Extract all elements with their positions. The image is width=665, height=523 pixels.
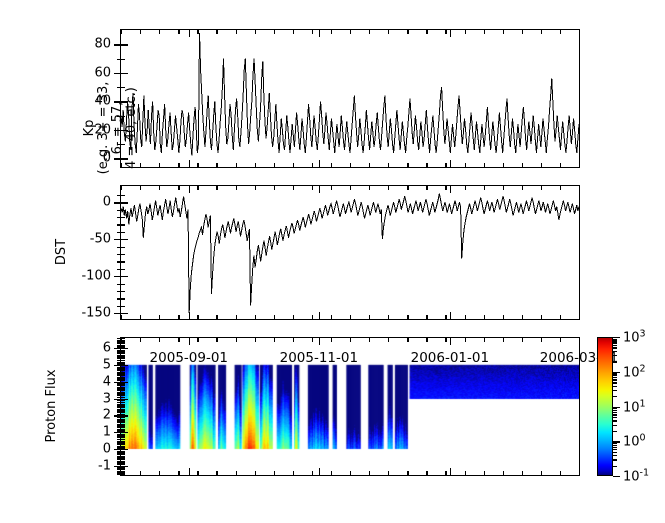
y-tick-minor-inner [121,446,125,447]
x-tick-minor [197,30,198,34]
x-tick-minor [465,315,466,319]
y-tick-major [114,202,121,203]
y-tick-major [114,276,121,277]
x-tick-minor [522,315,523,319]
x-tick-minor [503,163,504,167]
y-tick-major [114,239,121,240]
x-tick-minor [140,30,141,34]
x-tick-minor [484,30,485,34]
x-tick-minor [350,186,351,190]
x-tick-label: 2005-11-01 [280,350,358,366]
colorbar-tick-minor [613,373,617,374]
y-tick-minor-inner [121,355,125,356]
x-tick-major [450,468,451,475]
y-tick-minor-inner [121,217,125,218]
y-tick-minor-inner [121,373,125,374]
x-tick-major [450,186,451,193]
y-tick-minor-inner [121,368,125,369]
y-tick-label: 5 [103,357,111,372]
x-tick-minor [541,30,542,34]
x-tick-minor [274,163,275,167]
x-tick-minor [121,471,122,475]
x-tick-minor [159,163,160,167]
x-tick-minor [255,30,256,34]
y-tick-minor-inner [121,452,125,453]
y-tick-major-inner [121,365,128,366]
y-tick-minor-inner [121,224,125,225]
x-tick-minor [522,30,523,34]
y-tick-minor-inner [121,385,125,386]
y-tick-label: -50 [90,232,111,247]
x-tick-minor [140,315,141,319]
y-tick-minor-inner [121,425,125,426]
y-tick-minor-inner [121,441,125,442]
x-tick-minor [465,338,466,342]
x-tick-minor [407,315,408,319]
y-tick-label: -150 [81,306,111,321]
x-tick-minor [426,30,427,34]
y-tick-minor-inner [121,358,125,359]
x-tick-minor [560,315,561,319]
x-tick-minor [312,186,313,190]
figure-canvas: 020406080 Kp (e.g. 3+ = 33, 6- = 57, 4 =… [0,0,665,523]
x-tick-minor [369,163,370,167]
x-tick-minor [178,471,179,475]
colorbar-tick-minor [613,342,617,343]
x-tick-minor [541,163,542,167]
x-tick-major [319,30,320,37]
y-tick-major-inner [121,202,128,203]
x-tick-minor [388,186,389,190]
y-tick-major [114,348,121,349]
y-tick-major [114,313,121,314]
y-tick-minor-inner [121,343,125,344]
x-tick-major [189,30,190,37]
colorbar-tick-minor [613,410,617,411]
x-tick-minor [369,186,370,190]
x-tick-minor [312,30,313,34]
colorbar-label-exponent: 1 [640,398,646,409]
x-tick-major [579,186,580,193]
x-tick-minor [388,163,389,167]
x-tick-minor [369,30,370,34]
x-tick-minor [407,186,408,190]
y-tick-minor-inner [121,291,125,292]
y-tick-minor-inner [121,269,125,270]
y-tick-major-inner [121,382,128,383]
y-tick-minor-inner [121,195,125,196]
x-tick-major [579,30,580,37]
x-tick-minor [388,471,389,475]
x-tick-minor [159,338,160,342]
colorbar-tick-label: 103 [623,328,646,345]
x-tick-minor [407,471,408,475]
x-tick-major [450,160,451,167]
y-tick-minor-inner [121,345,125,346]
x-tick-minor [178,163,179,167]
x-tick-major [579,160,580,167]
y-tick-minor-inner [121,388,125,389]
y-tick-major-inner [121,466,128,467]
x-tick-minor [541,315,542,319]
y-tick-minor-inner [121,360,125,361]
dst-line-series [121,186,579,319]
x-tick-minor [197,186,198,190]
kp-plot-area [121,30,579,167]
colorbar-tick-minor [613,382,617,383]
y-tick-label: 0 [103,441,111,456]
y-tick-minor-inner [121,393,125,394]
y-tick-label: 4 [103,374,111,389]
x-tick-minor [560,163,561,167]
x-tick-minor [407,30,408,34]
x-tick-major [450,338,451,345]
colorbar-gradient [597,337,613,476]
y-tick-label: -100 [81,269,111,284]
y-tick-minor-inner [121,435,125,436]
x-tick-label: 2005-09-01 [150,350,228,366]
x-tick-major [579,312,580,319]
x-tick-label: 2006-01-01 [411,350,489,366]
y-tick-minor-inner [121,232,125,233]
colorbar-label-mantissa: 10 [623,400,640,415]
colorbar-tick-minor [613,445,617,446]
x-tick-minor [274,30,275,34]
x-tick-minor [216,163,217,167]
x-tick-major [319,468,320,475]
x-tick-minor [121,315,122,319]
dst-plot-area [121,186,579,319]
y-tick-minor-inner [121,367,125,368]
x-tick-minor [426,163,427,167]
x-tick-major [189,312,190,319]
x-tick-major [189,186,190,193]
x-tick-minor [197,163,198,167]
colorbar-tick-minor [613,466,617,467]
x-tick-minor [484,315,485,319]
x-tick-minor [350,163,351,167]
x-tick-minor [522,471,523,475]
x-tick-minor [369,471,370,475]
y-tick-minor-inner [121,427,125,428]
y-tick-minor-inner [121,407,125,408]
y-tick-minor-inner [121,420,125,421]
x-tick-minor [465,471,466,475]
x-tick-minor [216,315,217,319]
x-tick-minor [407,338,408,342]
x-tick-minor [140,338,141,342]
x-tick-minor [178,338,179,342]
colorbar-label-exponent: -1 [640,467,649,478]
colorbar-tick-minor [613,340,617,341]
y-tick-minor-inner [121,429,125,430]
x-tick-minor [312,163,313,167]
x-tick-minor [350,338,351,342]
y-tick-minor-inner [121,362,125,363]
x-tick-minor [274,338,275,342]
y-tick-minor-inner [121,454,125,455]
x-tick-minor [388,30,389,34]
panel-kp: 020406080 Kp (e.g. 3+ = 33, 6- = 57, 4 =… [120,29,580,168]
y-tick-minor-inner [121,298,125,299]
y-tick-major [114,415,121,416]
x-tick-minor [236,471,237,475]
x-tick-minor [541,471,542,475]
colorbar-tick-minor [613,355,617,356]
panel-proton-flux: -10123456 2005-09-012005-11-012006-01-01… [120,337,580,476]
colorbar-tick-minor [613,443,617,444]
x-tick-minor [236,163,237,167]
x-tick-minor [560,30,561,34]
x-tick-minor [331,315,332,319]
y-tick-minor-inner [121,392,125,393]
y-tick-minor-inner [121,350,125,351]
y-tick-minor-inner [121,451,125,452]
colorbar-tick-minor [613,420,617,421]
colorbar-tick-minor [613,447,617,448]
x-tick-minor [178,30,179,34]
y-tick-major-inner [121,276,128,277]
kp-line-series [121,30,579,167]
x-tick-minor [216,30,217,34]
y-tick-minor-inner [121,417,125,418]
y-tick-minor-inner [121,210,125,211]
x-tick-minor [331,163,332,167]
colorbar-label-exponent: 2 [640,363,646,374]
x-tick-major [319,160,320,167]
colorbar-label-exponent: 3 [640,328,646,339]
y-tick-minor-inner [121,353,125,354]
colorbar-tick-label: 101 [623,398,646,415]
x-tick-major [450,30,451,37]
x-tick-major [319,186,320,193]
x-tick-minor [560,338,561,342]
x-tick-minor [350,315,351,319]
colorbar-tick-minor [613,351,617,352]
x-tick-minor [541,186,542,190]
colorbar-tick-label: 10-1 [623,467,649,484]
x-tick-minor [465,163,466,167]
y-tick-minor-inner [121,457,125,458]
x-tick-minor [484,163,485,167]
y-tick-label: 3 [103,391,111,406]
colorbar-tick-label: 100 [623,433,646,450]
x-tick-minor [197,338,198,342]
x-tick-minor [255,471,256,475]
x-tick-major [189,160,190,167]
y-tick-major [114,432,121,433]
x-tick-minor [445,471,446,475]
y-tick-minor-inner [121,356,125,357]
x-tick-minor [312,315,313,319]
x-tick-minor [445,186,446,190]
y-tick-minor-inner [121,306,125,307]
x-tick-minor [350,30,351,34]
x-tick-minor [312,471,313,475]
x-tick-minor [503,315,504,319]
y-tick-minor-inner [121,378,125,379]
colorbar-tick-minor [613,379,617,380]
y-tick-minor-inner [121,402,125,403]
colorbar-tick-minor [613,408,617,409]
colorbar-tick-minor [613,414,617,415]
y-tick-major [114,449,121,450]
x-tick-minor [522,186,523,190]
y-tick-major-inner [121,239,128,240]
x-tick-minor [197,471,198,475]
x-tick-minor [560,471,561,475]
colorbar-tick-minor [613,417,617,418]
y-tick-minor-inner [121,422,125,423]
y-tick-major-inner [121,348,128,349]
colorbar-tick-minor [613,431,617,432]
y-tick-major [114,365,121,366]
y-tick-major [114,466,121,467]
colorbar-tick-minor [613,377,617,378]
y-tick-label: 2 [103,408,111,423]
x-tick-minor [236,315,237,319]
colorbar-tick-major [613,476,620,477]
y-tick-minor-inner [121,284,125,285]
colorbar-tick-minor [613,375,617,376]
x-tick-minor [331,471,332,475]
x-tick-minor [350,471,351,475]
y-tick-label: 6 [103,341,111,356]
y-tick-minor-inner [121,461,125,462]
y-tick-minor-inner [121,439,125,440]
x-tick-minor [426,315,427,319]
x-tick-minor [140,471,141,475]
x-tick-minor [159,186,160,190]
y-tick-minor-inner [121,387,125,388]
x-tick-minor [407,163,408,167]
x-tick-minor [255,315,256,319]
x-tick-minor [236,186,237,190]
y-tick-label: 0 [103,195,111,210]
x-tick-major [189,468,190,475]
x-tick-minor [255,338,256,342]
colorbar-tick-major [613,337,620,338]
x-tick-minor [522,163,523,167]
x-tick-minor [541,338,542,342]
x-tick-minor [465,186,466,190]
colorbar-label-mantissa: 10 [623,435,640,450]
x-tick-minor [255,186,256,190]
y-tick-major-inner [121,415,128,416]
x-tick-minor [274,186,275,190]
y-tick-label: -1 [98,458,111,473]
x-tick-minor [331,30,332,34]
x-tick-minor [140,186,141,190]
x-tick-minor [331,186,332,190]
y-tick-minor-inner [121,400,125,401]
y-tick-minor-inner [121,247,125,248]
y-tick-minor-inner [121,434,125,435]
y-tick-minor-inner [121,437,125,438]
x-tick-minor [369,338,370,342]
x-tick-minor [426,338,427,342]
x-tick-major [579,468,580,475]
colorbar-tick-minor [613,339,617,340]
y-tick-minor-inner [121,462,125,463]
colorbar-tick-major [613,441,620,442]
y-tick-minor-inner [121,254,125,255]
colorbar-tick-minor [613,347,617,348]
y-tick-minor-inner [121,351,125,352]
x-tick-minor [503,30,504,34]
x-tick-minor [560,186,561,190]
y-tick-major-inner [121,399,128,400]
x-tick-minor [484,471,485,475]
colorbar-tick-label: 102 [623,363,646,380]
x-tick-minor [255,163,256,167]
y-tick-minor-inner [121,404,125,405]
x-tick-major [319,338,320,345]
y-tick-minor-inner [121,419,125,420]
x-tick-major [189,338,190,345]
x-tick-minor [159,315,160,319]
x-tick-minor [293,163,294,167]
x-tick-major [579,338,580,345]
x-tick-minor [426,471,427,475]
x-tick-minor [293,338,294,342]
x-tick-minor [484,338,485,342]
x-tick-minor [445,163,446,167]
x-tick-minor [274,315,275,319]
y-tick-minor-inner [121,424,125,425]
y-tick-minor-inner [121,383,125,384]
y-tick-minor-inner [121,442,125,443]
y-tick-minor-inner [121,377,125,378]
x-tick-minor [522,338,523,342]
y-tick-major [114,382,121,383]
y-tick-minor-inner [121,467,125,468]
x-tick-minor [293,30,294,34]
colorbar-tick-major [613,372,620,373]
colorbar-tick-minor [613,345,617,346]
y-tick-minor-inner [121,456,125,457]
colorbar-tick-minor [613,449,617,450]
dst-axis-title: DST [55,192,69,312]
kp-axis-title-line1: Kp [83,28,97,228]
x-tick-minor [369,315,370,319]
x-tick-minor [140,163,141,167]
x-tick-minor [216,186,217,190]
colorbar-label-mantissa: 10 [623,365,640,380]
colorbar-tick-minor [613,361,617,362]
colorbar-tick-major [613,407,620,408]
x-tick-minor [465,30,466,34]
y-tick-minor-inner [121,390,125,391]
x-tick-major [450,312,451,319]
y-tick-minor-inner [121,370,125,371]
x-tick-minor [388,338,389,342]
x-tick-minor [445,30,446,34]
colorbar-tick-minor [613,425,617,426]
y-tick-minor-inner [121,405,125,406]
x-tick-minor [503,471,504,475]
x-tick-minor [331,338,332,342]
y-tick-minor-inner [121,459,125,460]
x-tick-minor [178,186,179,190]
x-tick-minor [159,471,160,475]
y-tick-minor-inner [121,395,125,396]
colorbar-tick-minor [613,390,617,391]
y-tick-minor-inner [121,412,125,413]
x-tick-minor [445,338,446,342]
y-tick-minor-inner [121,409,125,410]
colorbar-label-exponent: 0 [640,433,646,444]
